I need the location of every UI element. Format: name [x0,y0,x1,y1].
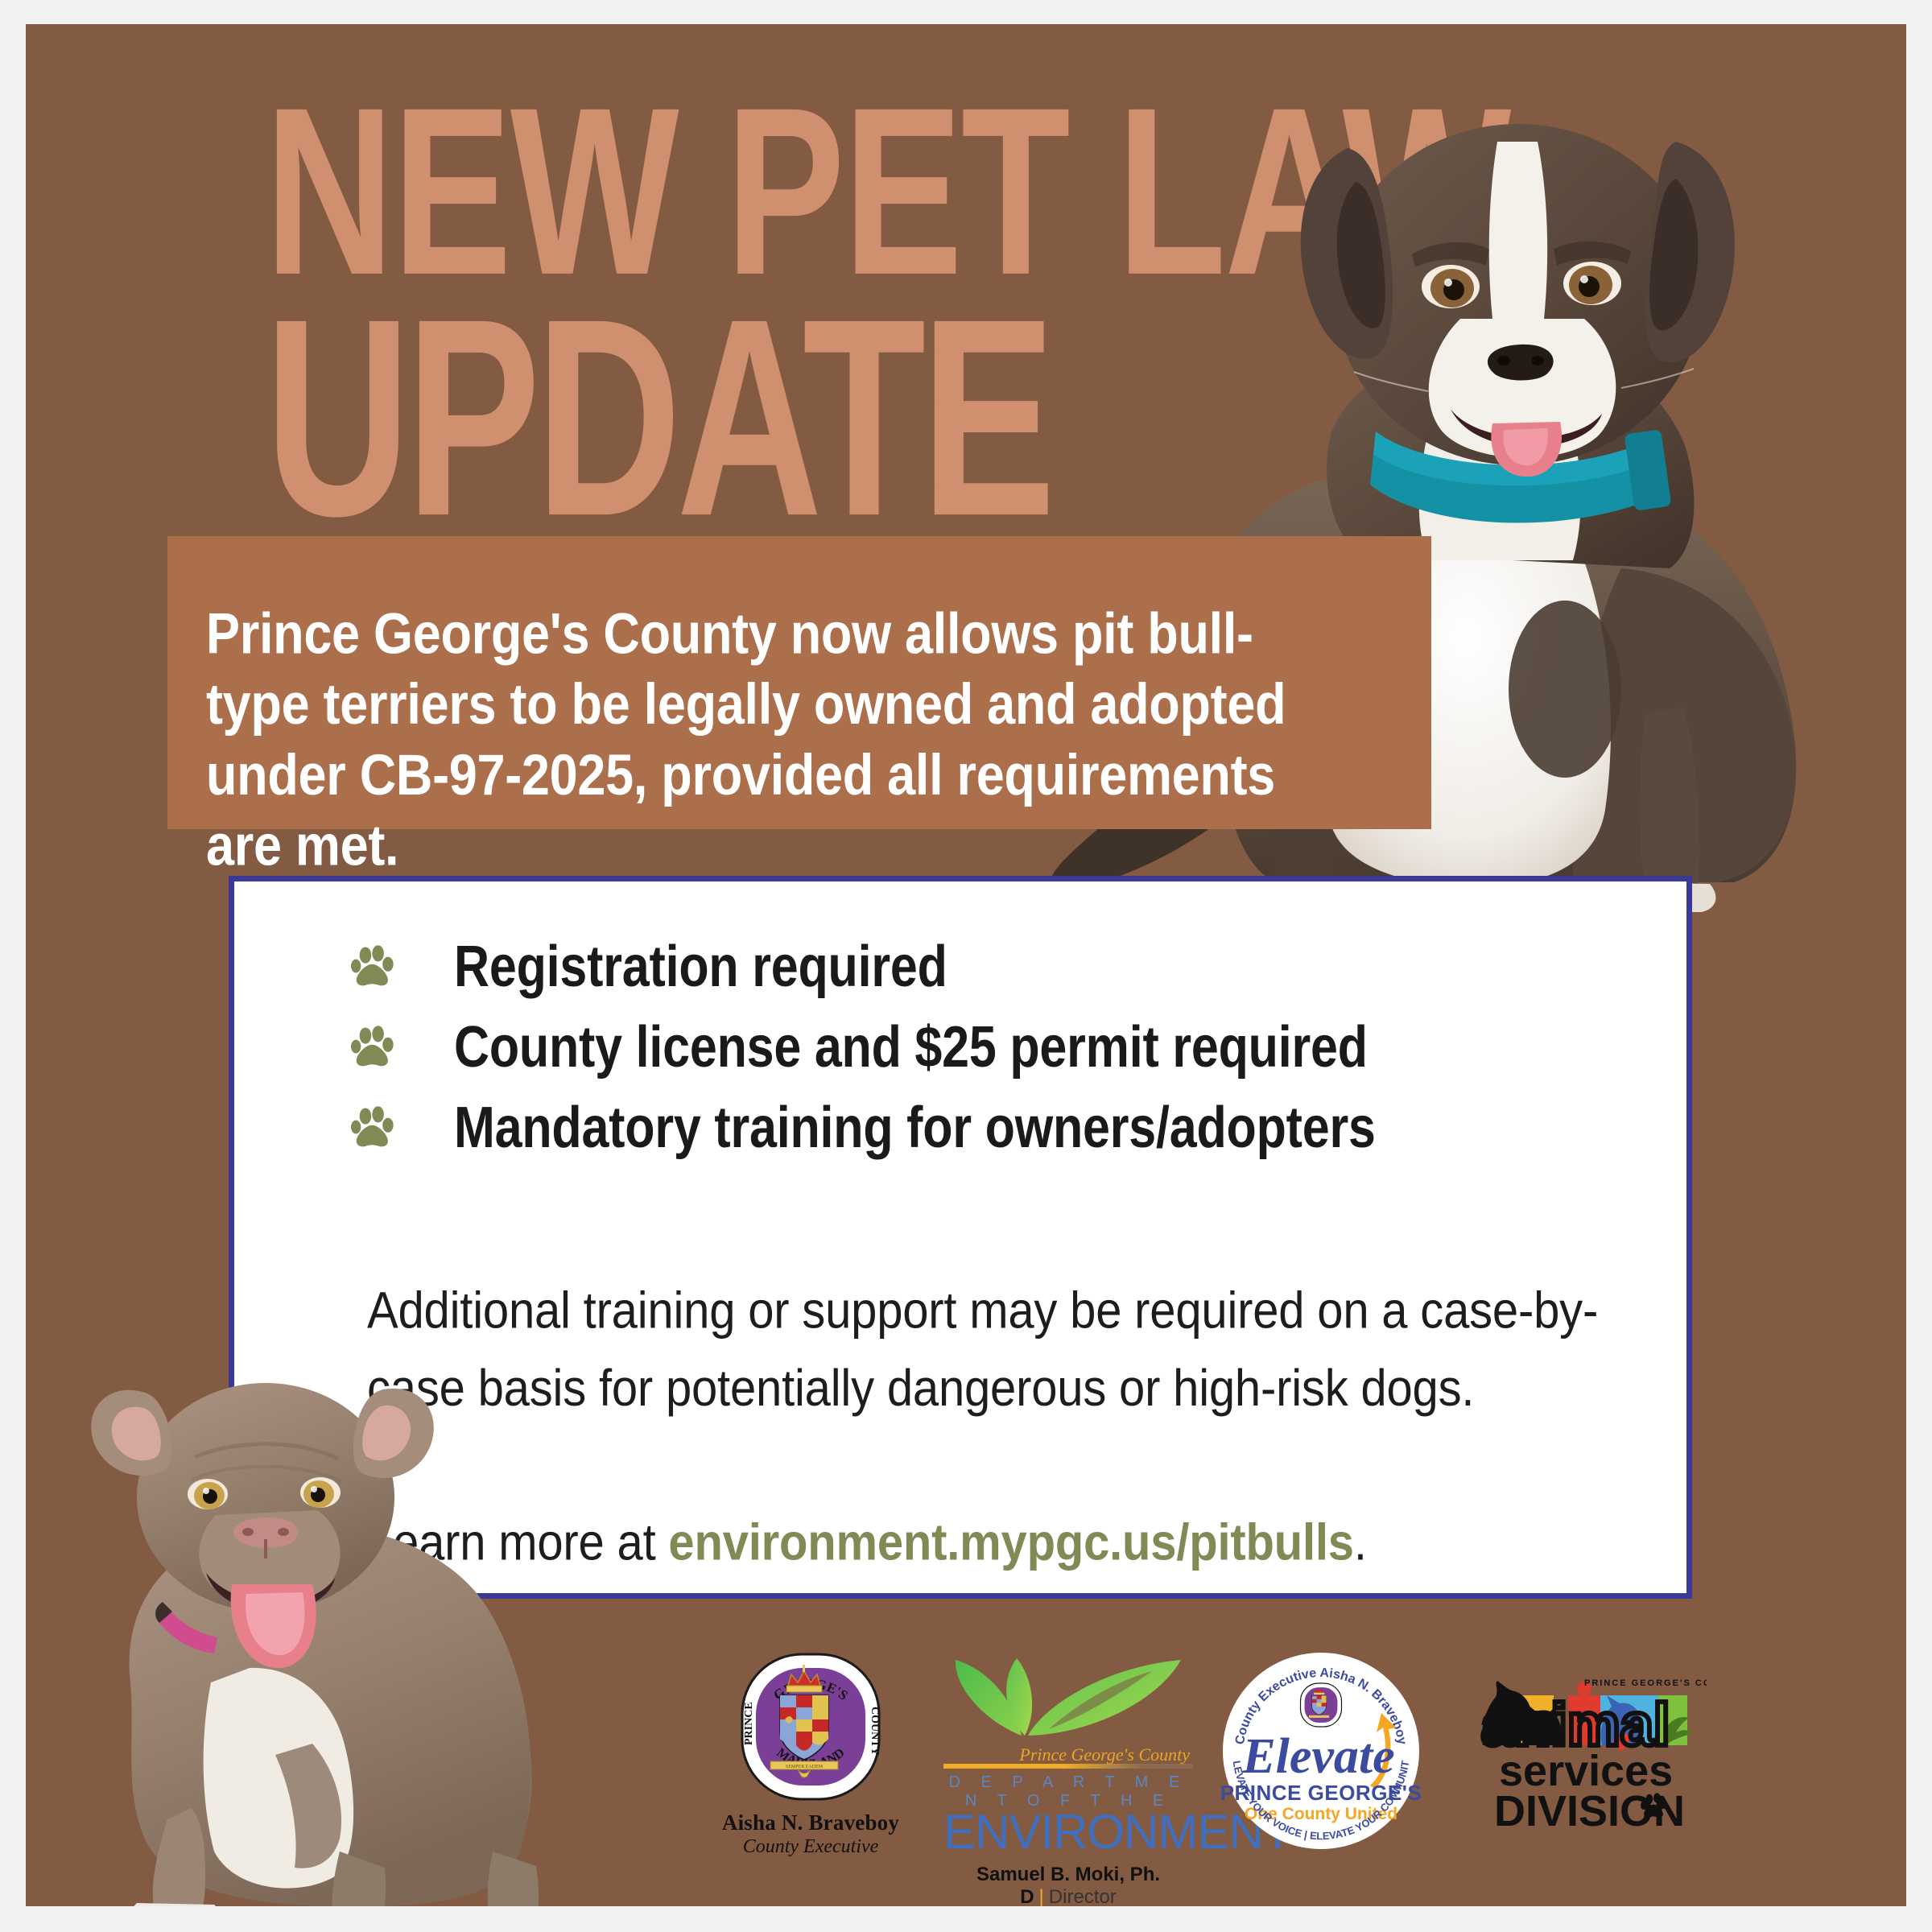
environment-director: Samuel B. Moki, Ph. D|Director [943,1864,1193,1906]
county-seal-logo: GEORGE'S MARYLAND PRINCE COUNTY [710,1650,911,1858]
seal-motto: SEMPER EADEM [786,1765,824,1769]
list-item: Registration required [351,926,1623,1006]
requirements-list: Registration required County license and… [351,926,1623,1167]
county-executive-role: County Executive [710,1836,911,1858]
animal-services-logo: PRINCE GEORGE'S COUNTY animal services D… [1465,1665,1731,1838]
learn-more-suffix: . [1354,1513,1367,1571]
animal-services-icon: PRINCE GEORGE'S COUNTY animal services D… [1465,1665,1707,1834]
highlight-banner: Prince George's County now allows pit bu… [167,536,1431,829]
title-line-1: NEW PET LAW [265,101,1579,284]
environment-county: Prince George's County [943,1744,1190,1765]
director-role: Director [1049,1886,1117,1906]
poster-canvas: NEW PET LAW UPDATE [26,24,1906,1906]
logo-row: GEORGE'S MARYLAND PRINCE COUNTY [702,1650,1765,1892]
learn-more-prefix: Learn more at [367,1513,668,1571]
learn-more-url[interactable]: environment.mypgc.us/pitbulls [668,1513,1353,1571]
county-executive-name: Aisha N. Braveboy [710,1810,911,1835]
seal-ring-right: COUNTY [869,1707,881,1756]
list-item-label: County license and $25 permit required [454,1017,1368,1075]
page-title: NEW PET LAW UPDATE [265,101,1553,463]
paw-icon [351,1024,396,1069]
animal-services-eyebrow: PRINCE GEORGE'S COUNTY [1584,1678,1707,1688]
environment-logo: Prince George's County D E P A R T M E N… [943,1650,1193,1906]
list-item: County license and $25 permit required [351,1006,1623,1087]
elevate-script: Elevate [1241,1729,1394,1784]
banner-text: Prince George's County now allows pit bu… [206,599,1349,881]
title-line-2: UPDATE [265,310,1579,527]
county-seal-icon: GEORGE'S MARYLAND PRINCE COUNTY [738,1650,883,1803]
elevate-badge-icon: County Executive Aisha N. Braveboy [1220,1650,1422,1851]
list-item-label: Registration required [454,936,947,995]
additional-info-paragraph: Additional training or support may be re… [367,1272,1647,1428]
environment-word: ENVIRONMENT [943,1809,1193,1856]
paw-icon [351,1104,396,1150]
leaves-icon [947,1650,1189,1740]
elevate-logo: County Executive Aisha N. Braveboy [1220,1650,1438,1856]
learn-more-line: Learn more at environment.mypgc.us/pitbu… [367,1512,1647,1574]
list-item-label: Mandatory training for owners/adopters [454,1097,1376,1156]
requirements-card: Registration required County license and… [229,876,1692,1599]
list-item: Mandatory training for owners/adopters [351,1087,1623,1167]
paw-icon [351,943,396,989]
seal-ring-left: PRINCE [743,1702,755,1745]
